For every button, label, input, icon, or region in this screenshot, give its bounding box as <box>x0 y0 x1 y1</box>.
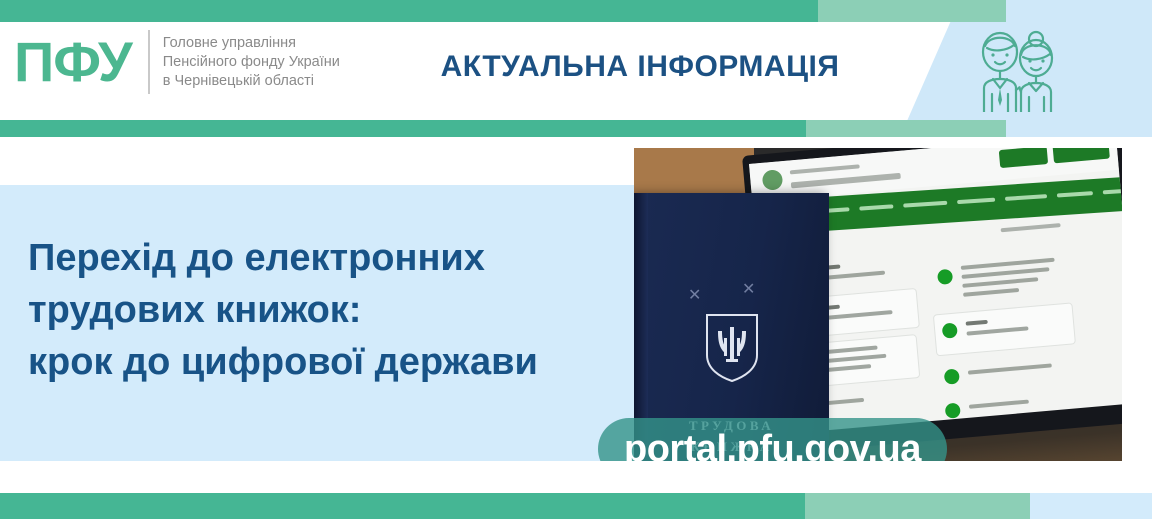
footer-bar-light <box>805 493 1030 519</box>
footer-white-band <box>0 461 1152 493</box>
header-title: АКТУАЛЬНА ІНФОРМАЦІЯ <box>420 50 860 84</box>
org-line-1: Головне управління <box>163 34 340 53</box>
pfu-logo: ПФУ Головне управління Пенсійного фонду … <box>14 30 340 94</box>
org-line-2: Пенсійного фонду України <box>163 53 340 72</box>
org-line-3: в Чернівецькій області <box>163 72 340 91</box>
pfu-info-banner: ПФУ Головне управління Пенсійного фонду … <box>0 0 1152 519</box>
banner-header: ПФУ Головне управління Пенсійного фонду … <box>0 0 1152 137</box>
headline-line-3: крок до цифрової держави <box>28 336 608 388</box>
portal-subline <box>1001 223 1061 232</box>
logo-mark-text: ПФУ <box>14 34 132 90</box>
portal-service-icon <box>937 269 953 285</box>
header-top-bar-dark <box>0 0 818 22</box>
headline-line-2: трудових книжок: <box>28 284 608 336</box>
headline-line-1: Перехід до електронних <box>28 232 608 284</box>
book-decor-mark: ✕ <box>742 279 755 299</box>
header-top-bar-light <box>818 0 1006 22</box>
footer-bar-blue <box>1030 493 1152 519</box>
ukraine-tryzub-emblem <box>704 311 760 388</box>
header-bottom-bar-dark <box>0 120 806 137</box>
header-bottom-bar-light <box>806 120 1006 137</box>
main-headline: Перехід до електронних трудових книжок: … <box>28 232 608 388</box>
logo-divider <box>148 30 150 94</box>
elderly-couple-icon <box>960 28 1072 117</box>
portal-service-icon <box>944 369 960 385</box>
book-decor-mark: ✕ <box>688 285 701 305</box>
portal-service-icon <box>945 403 961 419</box>
footer-bar-dark <box>0 493 805 519</box>
organization-name: Головне управління Пенсійного фонду Укра… <box>163 34 340 91</box>
